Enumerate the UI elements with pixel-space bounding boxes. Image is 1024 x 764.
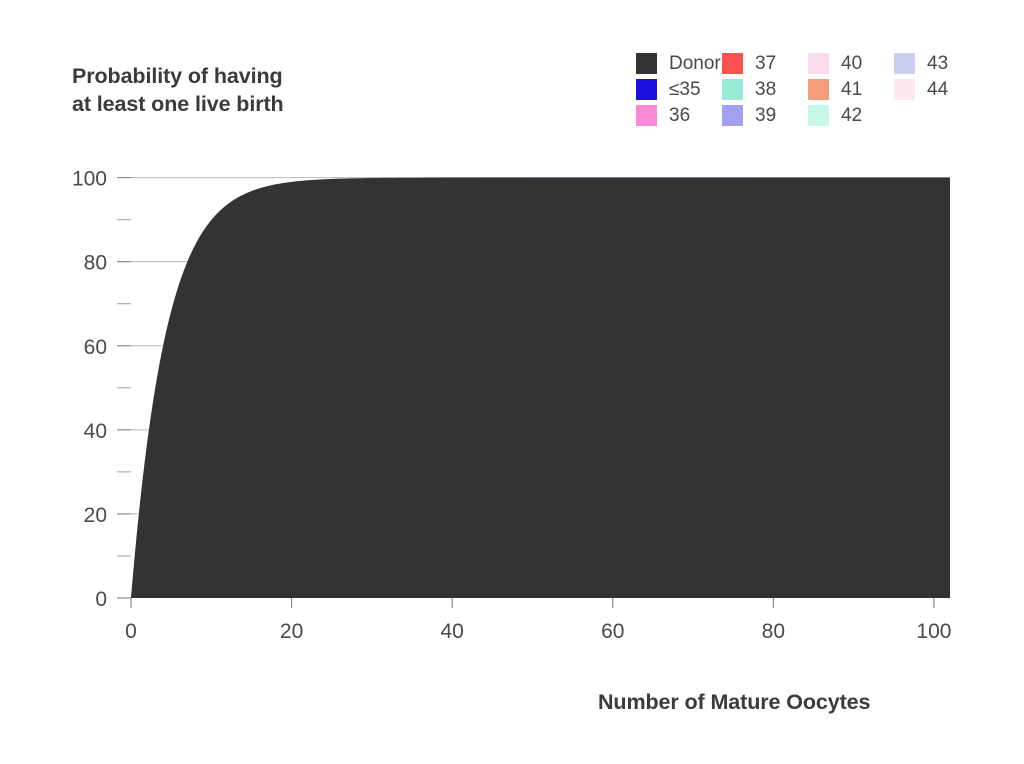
y-tick-label: 40 bbox=[84, 420, 107, 443]
x-tick-label: 100 bbox=[916, 620, 951, 643]
x-axis-title: Number of Mature Oocytes bbox=[598, 690, 870, 715]
y-tick-label: 100 bbox=[72, 168, 107, 191]
series-areas bbox=[131, 178, 950, 598]
chart-plot-area: 020406080100020406080100 bbox=[0, 0, 1024, 764]
x-tick-label: 0 bbox=[125, 620, 137, 643]
y-tick-label: 80 bbox=[84, 252, 107, 275]
x-tick-label: 20 bbox=[280, 620, 303, 643]
chart-figure: Probability of having at least one live … bbox=[0, 0, 1024, 764]
y-tick-label: 60 bbox=[84, 336, 107, 359]
y-tick-label: 20 bbox=[84, 504, 107, 527]
y-tick-label: 0 bbox=[95, 588, 107, 611]
series-area-donor bbox=[131, 178, 950, 598]
x-tick-label: 60 bbox=[601, 620, 624, 643]
x-tick-label: 40 bbox=[440, 620, 463, 643]
x-tick-label: 80 bbox=[762, 620, 785, 643]
